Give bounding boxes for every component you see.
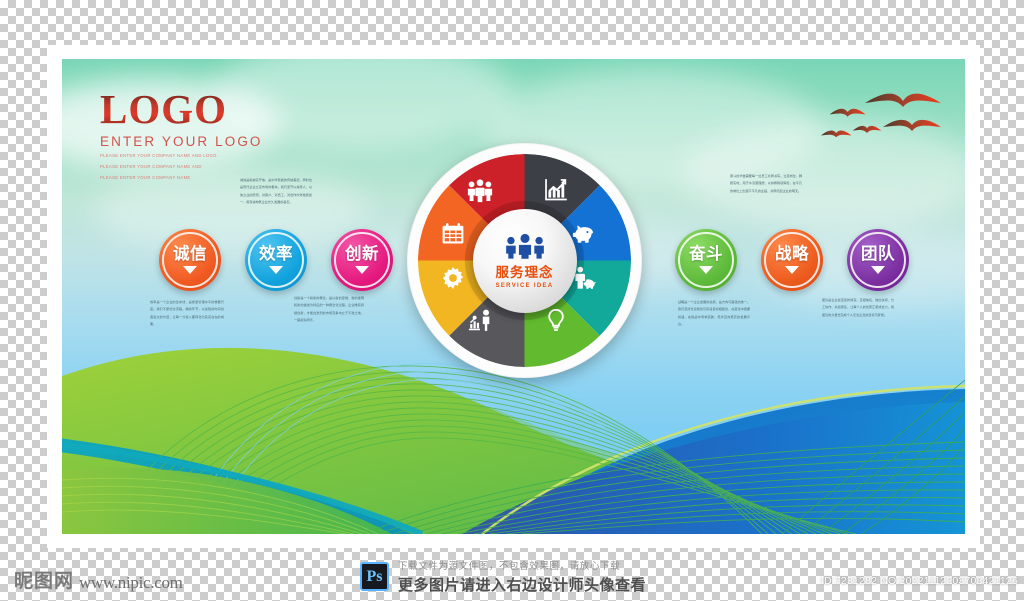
lightbulb-icon[interactable] <box>543 307 569 333</box>
paragraph-bottom-right-a: 战略是一个企业发展的总纲，是方向与路径的统一。我们坚持长远规划与阶段目标相结合，… <box>678 299 750 328</box>
paragraph-top-left: 诚信是指诚实守信，是中华民族的传统美德，同时也是现代企业立足市场的根本。我们坚守… <box>240 177 312 206</box>
badge-efficiency[interactable]: 效率 <box>245 229 307 291</box>
triangle-down-icon <box>785 266 799 274</box>
bird-icon <box>830 109 866 117</box>
service-idea-wheel: 服务理念 SERVICE IDEA <box>407 143 642 378</box>
badge-label: 诚信 <box>173 246 207 263</box>
paragraph-bottom-left-b: 创新是一个崭新的概念，是以新的思维、新的发明和新的描述为特征的一种概念化过程。企… <box>294 295 364 324</box>
gear-icon[interactable] <box>440 265 466 291</box>
site-logo-cn: 昵图网 <box>14 566 74 593</box>
asset-id-text: ID:7231282 NO:20221112203708421126 <box>821 575 1018 587</box>
people-group-icon <box>503 233 547 259</box>
triangle-down-icon <box>183 266 197 274</box>
badge-label: 创新 <box>345 246 379 263</box>
bird-icon <box>883 120 941 131</box>
poster-artwork: LOGO ENTER YOUR LOGO PLEASE ENTER YOUR C… <box>62 59 965 534</box>
badge-label: 效率 <box>259 246 293 263</box>
photoshop-icon: Ps <box>360 562 389 591</box>
badge-strategy[interactable]: 战略 <box>761 229 823 291</box>
watermark-left: 昵图网 www.nipic.com <box>14 566 183 593</box>
paragraph-top-right: 奋斗的华章需要每一位员工共同书写。立足岗位，脚踏实地，用汗水浇灌理想，以拼搏铸就… <box>730 173 802 195</box>
site-url: www.nipic.com <box>79 573 183 593</box>
logo-placeholder-line-1: PLEASE ENTER YOUR COMPANY NAME AND LOGO <box>100 152 263 160</box>
hub-title-en: SERVICE IDEA <box>496 283 554 289</box>
wheel-segments: 服务理念 SERVICE IDEA <box>418 154 631 367</box>
download-note-small: 下载文件为源文件图，不包含效果图，请放心下载 <box>398 558 646 572</box>
triangle-down-icon <box>699 266 713 274</box>
badge-striving[interactable]: 奋斗 <box>675 229 737 291</box>
badge-integrity[interactable]: 诚信 <box>159 229 221 291</box>
flying-birds-decoration <box>815 89 945 169</box>
logo-placeholder-line-2: PLEASE ENTER YOUR COMPANY NAME AND <box>100 163 263 171</box>
badge-team[interactable]: 团队 <box>847 229 909 291</box>
badge-innovation[interactable]: 创新 <box>331 229 393 291</box>
screenshot-root: { "logo": { "title": "LOGO", "subtitle":… <box>0 0 1024 601</box>
bird-icon <box>853 126 882 133</box>
logo-placeholder-line-3: PLEASE ENTER YOUR COMPANY NAME <box>100 174 263 182</box>
triangle-down-icon <box>871 266 885 274</box>
badge-label: 奋斗 <box>689 246 723 263</box>
person-bar-chart-icon[interactable] <box>467 307 493 333</box>
logo-block: LOGO ENTER YOUR LOGO PLEASE ENTER YOUR C… <box>100 89 263 182</box>
wheel-hub[interactable]: 服务理念 SERVICE IDEA <box>473 209 577 313</box>
bird-icon <box>821 131 852 138</box>
poster-mat: LOGO ENTER YOUR LOGO PLEASE ENTER YOUR C… <box>47 45 980 548</box>
paragraph-bottom-left-a: 效率是一个企业的生命线，是衡量管理水平的重要尺度。我们不断优化流程，精简环节，以… <box>150 299 224 328</box>
triangle-down-icon <box>355 266 369 274</box>
hub-title-cn: 服务理念 <box>496 261 554 281</box>
badge-label: 战略 <box>775 246 809 263</box>
bird-icon <box>865 94 941 107</box>
logo-title: LOGO <box>100 89 263 130</box>
logo-subtitle: ENTER YOUR LOGO <box>100 134 263 149</box>
bar-chart-up-icon[interactable] <box>543 177 569 203</box>
calendar-icon[interactable] <box>440 221 466 247</box>
badge-label: 团队 <box>861 246 895 263</box>
download-note-big: 更多图片请进入右边设计师头像查看 <box>398 574 646 595</box>
paragraph-bottom-right-b: 团队是企业最宝贵的财富。互相信任、彼此扶持、分工协作、共担责任，让每个人的优势汇… <box>822 297 894 319</box>
triangle-down-icon <box>269 266 283 274</box>
people-group-icon[interactable] <box>466 177 494 203</box>
watermark-center: Ps 下载文件为源文件图，不包含效果图，请放心下载 更多图片请进入右边设计师头像… <box>360 558 646 595</box>
